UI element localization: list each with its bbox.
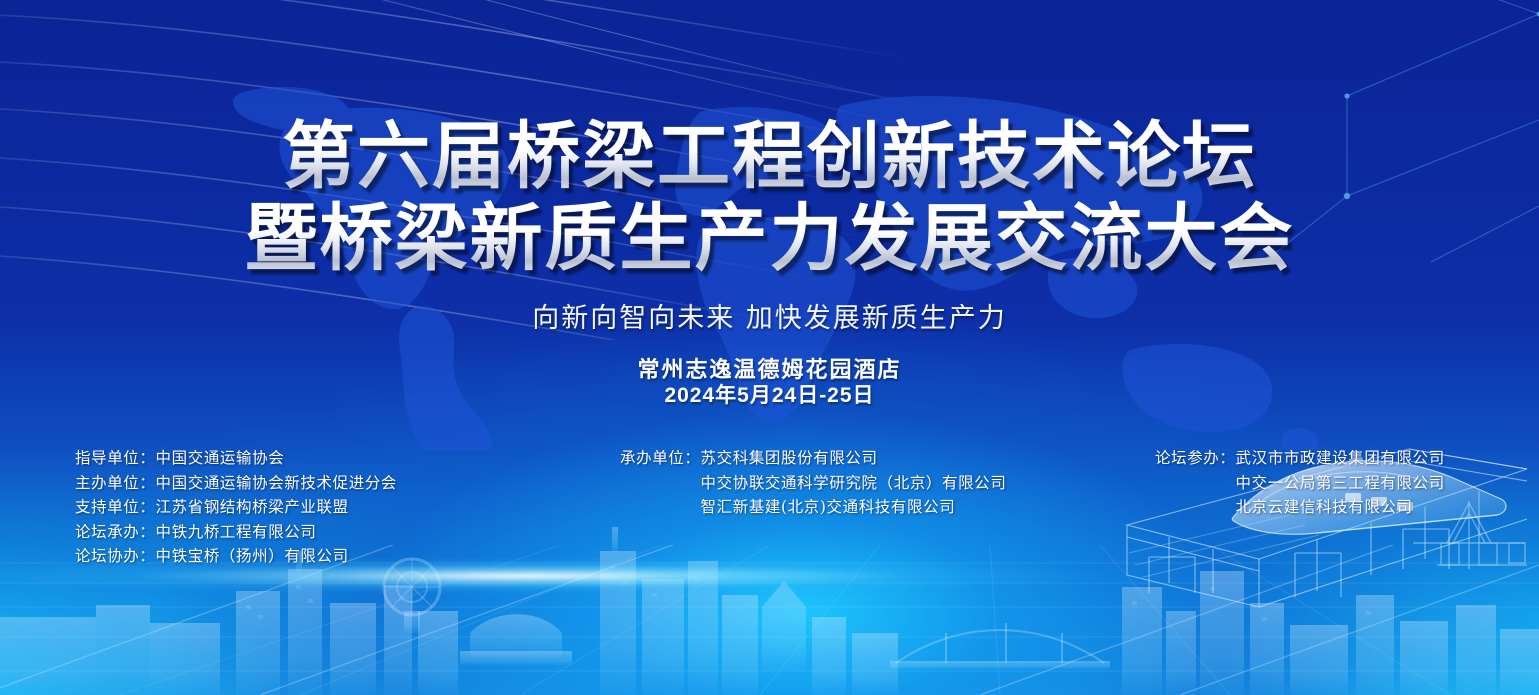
org-value: 智汇新基建(北京)交通科技有限公司 bbox=[701, 495, 956, 520]
org-value: 中国交通运输协会 bbox=[156, 446, 285, 471]
organizations-middle: 承办单位： 苏交科集团股份有限公司 承办单位： 中交协联交通科学研究院（北京）有… bbox=[620, 446, 1006, 520]
org-value: 中铁九桥工程有限公司 bbox=[156, 520, 317, 545]
org-label: 论坛承办： bbox=[75, 520, 156, 545]
title-line-2: 暨桥梁新质生产力发展交流大会 bbox=[0, 197, 1539, 279]
org-value: 中铁宝桥（扬州）有限公司 bbox=[156, 544, 349, 569]
org-value: 中交协联交通科学研究院（北京）有限公司 bbox=[701, 471, 1007, 496]
org-row: 论坛参办： 北京云建信科技有限公司 bbox=[1155, 495, 1445, 520]
org-value: 中交一公局第三工程有限公司 bbox=[1236, 471, 1445, 496]
org-label: 支持单位： bbox=[75, 495, 156, 520]
org-value: 中国交通运输协会新技术促进分会 bbox=[156, 471, 398, 496]
org-row: 论坛承办： 中铁九桥工程有限公司 bbox=[75, 520, 397, 545]
organization-columns: 指导单位： 中国交通运输协会 主办单位： 中国交通运输协会新技术促进分会 支持单… bbox=[0, 444, 1539, 574]
org-row: 承办单位： 中交协联交通科学研究院（北京）有限公司 bbox=[620, 471, 1006, 496]
org-label: 主办单位： bbox=[75, 471, 156, 496]
title-line-1: 第六届桥梁工程创新技术论坛 bbox=[0, 115, 1539, 197]
organizations-right: 论坛参办： 武汉市市政建设集团有限公司 论坛参办： 中交一公局第三工程有限公司 … bbox=[1155, 446, 1445, 520]
org-row: 承办单位： 苏交科集团股份有限公司 bbox=[620, 446, 1006, 471]
org-row: 主办单位： 中国交通运输协会新技术促进分会 bbox=[75, 471, 397, 496]
org-row: 论坛参办： 武汉市市政建设集团有限公司 bbox=[1155, 446, 1445, 471]
main-title: 第六届桥梁工程创新技术论坛 暨桥梁新质生产力发展交流大会 bbox=[0, 115, 1539, 279]
org-row: 承办单位： 智汇新基建(北京)交通科技有限公司 bbox=[620, 495, 1006, 520]
org-value: 北京云建信科技有限公司 bbox=[1236, 495, 1413, 520]
org-row: 支持单位： 江苏省钢结构桥梁产业联盟 bbox=[75, 495, 397, 520]
org-label: 指导单位： bbox=[75, 446, 156, 471]
conference-banner: 第六届桥梁工程创新技术论坛 暨桥梁新质生产力发展交流大会 向新向智向未来 加快发… bbox=[0, 0, 1539, 695]
org-value: 武汉市市政建设集团有限公司 bbox=[1236, 446, 1445, 471]
event-date: 2024年5月24日-25日 bbox=[0, 379, 1539, 409]
org-value: 苏交科集团股份有限公司 bbox=[701, 446, 878, 471]
banner-content: 第六届桥梁工程创新技术论坛 暨桥梁新质生产力发展交流大会 向新向智向未来 加快发… bbox=[0, 0, 1539, 695]
org-label: 论坛参办： bbox=[1155, 446, 1236, 471]
org-label: 承办单位： bbox=[620, 446, 701, 471]
org-value: 江苏省钢结构桥梁产业联盟 bbox=[156, 495, 349, 520]
org-label: 论坛协办： bbox=[75, 544, 156, 569]
org-row: 论坛参办： 中交一公局第三工程有限公司 bbox=[1155, 471, 1445, 496]
org-row: 指导单位： 中国交通运输协会 bbox=[75, 446, 397, 471]
event-slogan: 向新向智向未来 加快发展新质生产力 bbox=[0, 296, 1539, 335]
organizations-left: 指导单位： 中国交通运输协会 主办单位： 中国交通运输协会新技术促进分会 支持单… bbox=[75, 446, 397, 569]
org-row: 论坛协办： 中铁宝桥（扬州）有限公司 bbox=[75, 544, 397, 569]
